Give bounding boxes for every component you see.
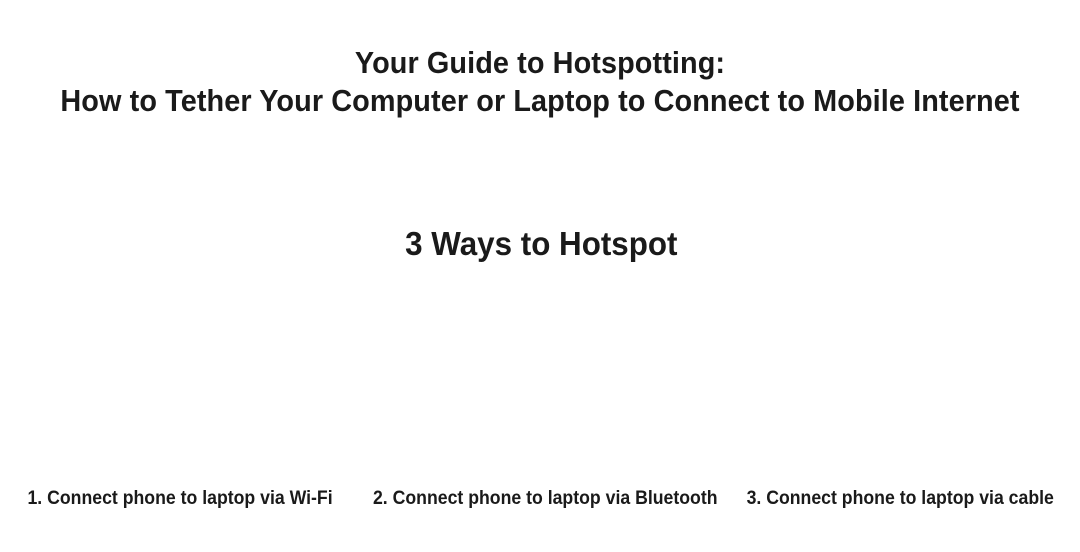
caption-cell-cable: 3. Connect phone to laptop via cable (720, 487, 1080, 511)
page-title-line-2: How to Tether Your Computer or Laptop to… (38, 82, 1042, 120)
section-heading: 3 Ways to Hotspot (0, 224, 1080, 264)
page-title: Your Guide to Hotspotting: How to Tether… (0, 44, 1080, 120)
section-heading-text: 3 Ways to Hotspot (405, 224, 677, 264)
caption-text-bluetooth: 2. Connect phone to laptop via Bluetooth (373, 487, 718, 511)
illustration-slot-wifi (0, 286, 360, 476)
caption-cell-bluetooth: 2. Connect phone to laptop via Bluetooth (360, 487, 720, 511)
illustration-band (0, 286, 1080, 476)
caption-text-cable: 3. Connect phone to laptop via cable (746, 487, 1053, 511)
illustration-slot-cable (720, 286, 1080, 476)
illustration-slot-bluetooth (360, 286, 720, 476)
caption-row: 1. Connect phone to laptop via Wi-Fi 2. … (0, 487, 1080, 511)
page-title-line-1: Your Guide to Hotspotting: (38, 44, 1042, 82)
caption-text-wifi: 1. Connect phone to laptop via Wi-Fi (27, 487, 332, 511)
caption-cell-wifi: 1. Connect phone to laptop via Wi-Fi (0, 487, 360, 511)
infographic-page: Your Guide to Hotspotting: How to Tether… (0, 0, 1080, 552)
